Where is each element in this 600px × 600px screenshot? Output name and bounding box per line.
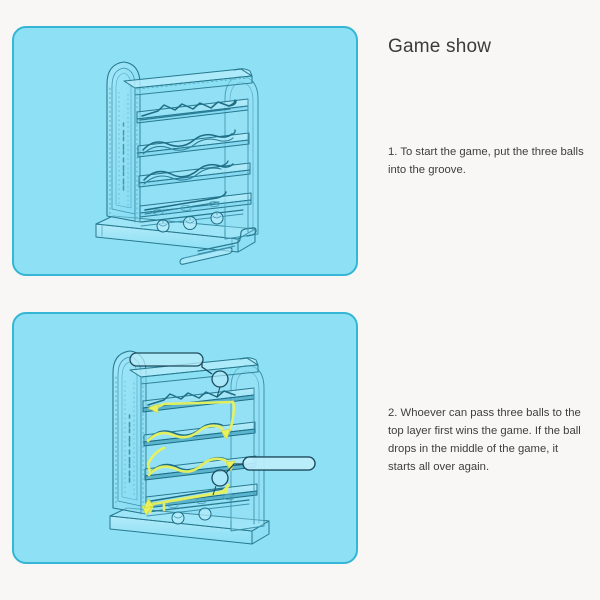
page-title: Game show bbox=[388, 36, 491, 58]
panel-clip-top: Clear acrylic multi-level ball game stan… bbox=[12, 26, 358, 276]
callout-top-label bbox=[130, 353, 203, 366]
text-column: Game show 1. To start the game, put the … bbox=[388, 0, 594, 600]
panel-clip-bottom: The same game stand with a yellow highli… bbox=[12, 312, 358, 564]
page-root: Clear acrylic multi-level ball game stan… bbox=[0, 0, 600, 600]
instruction-step-1: 1. To start the game, put the three ball… bbox=[388, 143, 584, 179]
callout-middle-target-circle bbox=[212, 470, 228, 486]
callout-top-target-circle bbox=[212, 371, 228, 387]
device-illustration-step-2 bbox=[12, 312, 358, 564]
accessory-rod bbox=[180, 248, 232, 265]
instruction-step-2: 2. Whoever can pass three balls to the t… bbox=[388, 404, 584, 476]
callout-middle-overflow bbox=[243, 457, 315, 470]
illustration-panel-step-2: The same game stand with a yellow highli… bbox=[12, 312, 358, 564]
device-illustration-step-1 bbox=[12, 26, 358, 276]
illustration-panel-step-1: Clear acrylic multi-level ball game stan… bbox=[12, 26, 358, 276]
